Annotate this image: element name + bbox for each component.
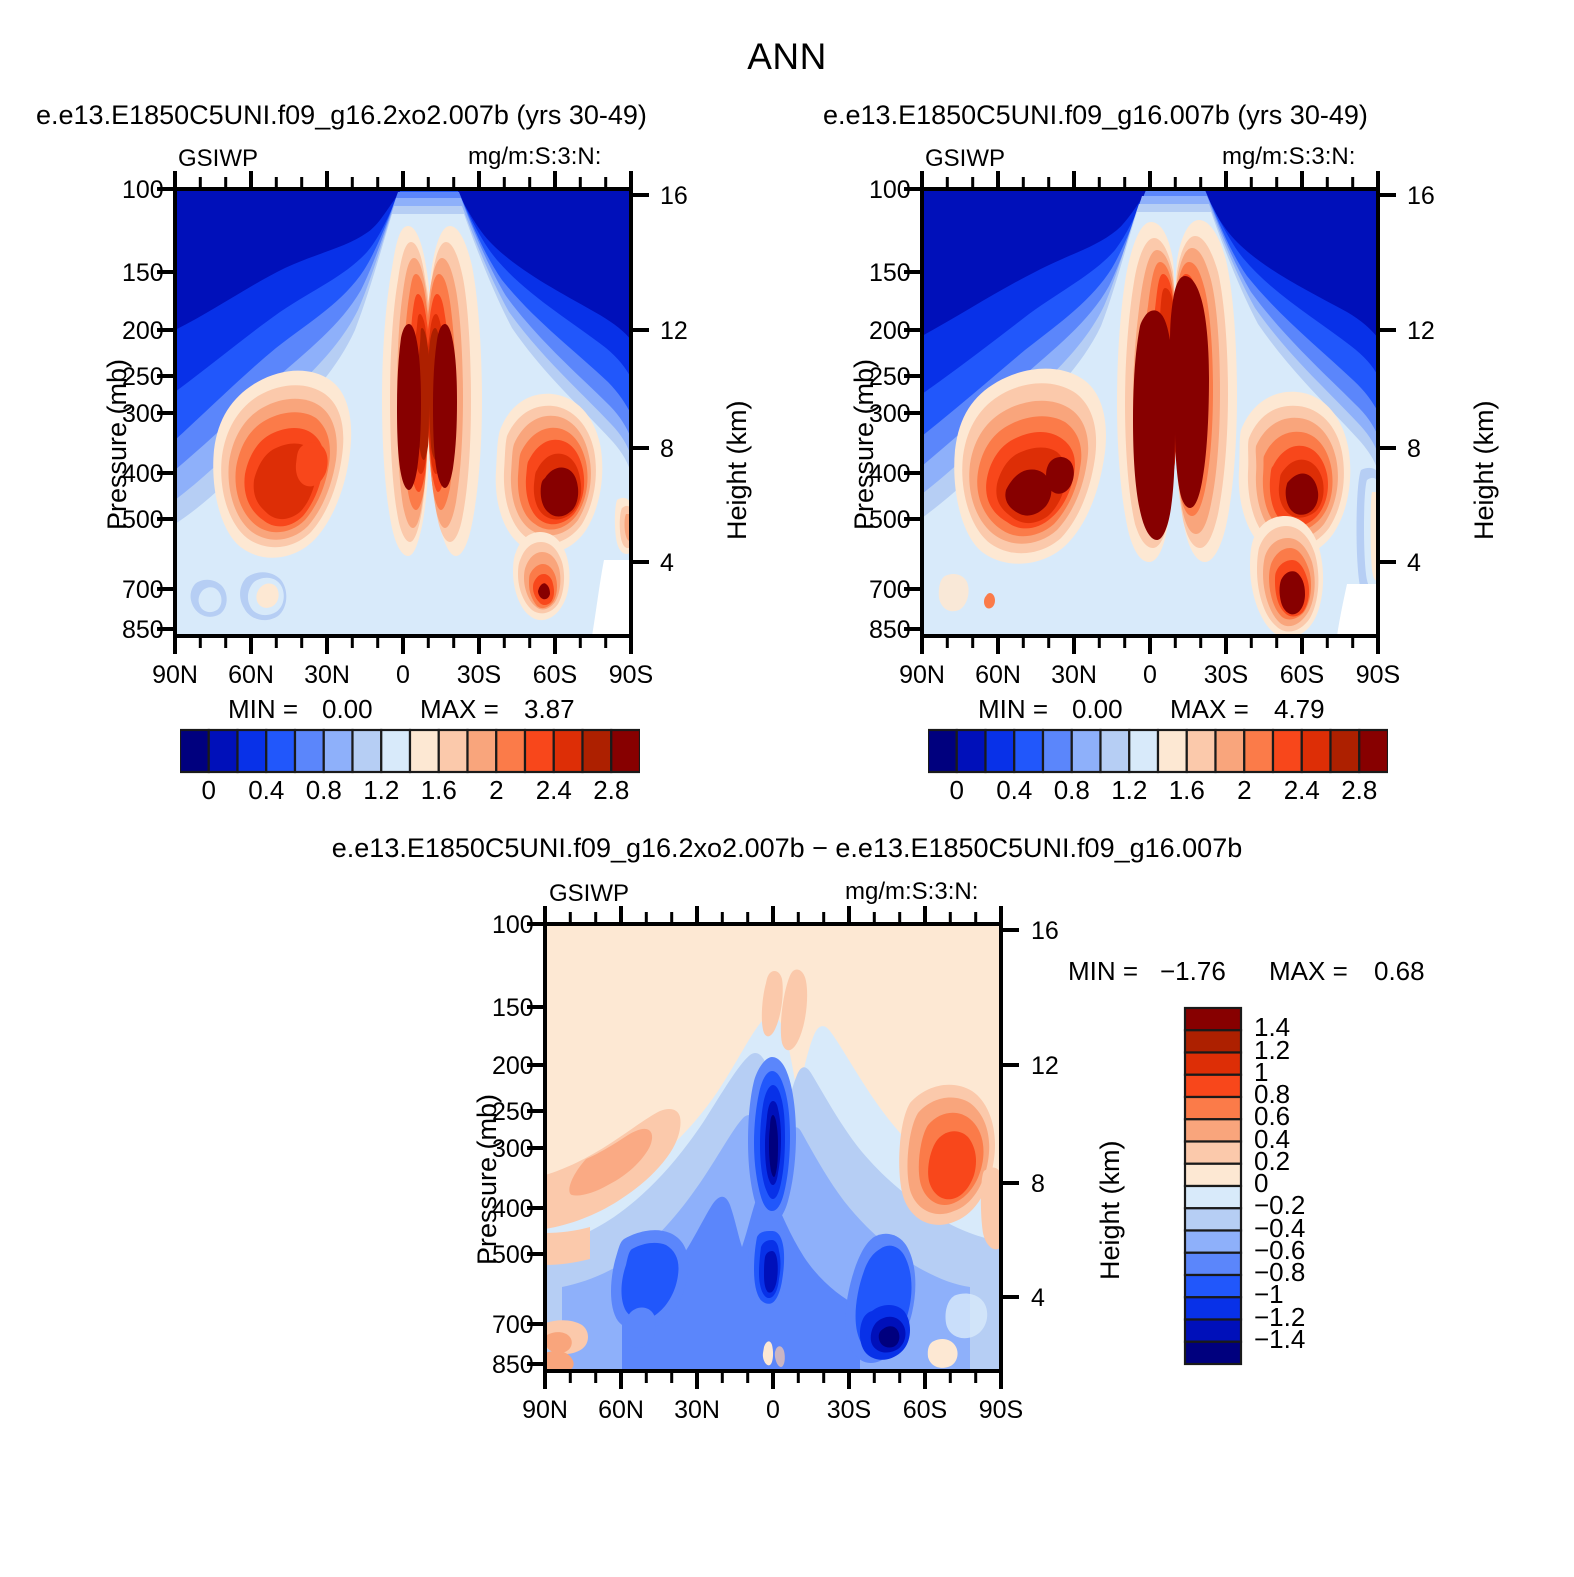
y-tick-right-500: 500 [869,506,897,535]
colorbar-cell [1185,1342,1241,1364]
colorbar-tick-label: −1.4 [1254,1324,1354,1355]
colorbar-cell [1244,730,1273,772]
y2-axis-ticks-diff [1001,930,1019,1297]
y-tick-left-150: 150 [122,259,150,288]
contour-plot-right [747,0,1547,700]
colorbar-tick-label: 2 [1214,775,1274,806]
y2-tick-right-16: 16 [1407,182,1435,211]
y2-tick-left-4: 4 [660,549,674,578]
x-axis-ticks-top-left [175,171,631,189]
colorbar-cell [1185,1275,1241,1297]
colorbar-cell [1185,1208,1241,1230]
contour-plot-diff [370,735,1170,1455]
y-tick-diff-250: 250 [492,1098,520,1127]
colorbar-cell [209,730,238,772]
y-tick-left-200: 200 [122,317,150,346]
y-tick-left-500: 500 [122,506,150,535]
x-tick-right-0: 0 [1110,661,1190,690]
colorbar-cell [1185,1119,1241,1141]
y-tick-right-200: 200 [869,317,897,346]
x-tick-left-0: 0 [363,661,443,690]
x-tick-diff-90N: 90N [505,1396,585,1425]
colorbar-diff-labels: 1.41.210.80.60.40.20−0.2−0.4−0.6−0.8−1−1… [1248,1006,1358,1386]
x-tick-diff-30N: 30N [657,1396,737,1425]
x-tick-diff-90S: 90S [961,1396,1041,1425]
y-tick-right-250: 250 [869,363,897,392]
colorbar-cell [1302,730,1331,772]
y-tick-right-850: 850 [869,616,897,645]
y-tick-right-300: 300 [869,400,897,429]
y-tick-left-700: 700 [122,576,150,605]
max-value-right: 4.79 [1274,694,1325,725]
colorbar-cell [1185,1297,1241,1319]
colorbar-cell [1185,1164,1241,1186]
x-tick-left-30N: 30N [287,661,367,690]
y-tick-right-150: 150 [869,259,897,288]
x-axis-ticks-top-right [922,171,1378,189]
y-tick-right-400: 400 [869,460,897,489]
y2-tick-diff-4: 4 [1031,1284,1045,1313]
y2-tick-right-8: 8 [1407,435,1421,464]
x-tick-right-90N: 90N [882,661,962,690]
colorbar-cell [1185,1142,1241,1164]
colorbar-cell [1185,1186,1241,1208]
y-tick-diff-500: 500 [492,1241,520,1270]
y2-tick-right-4: 4 [1407,549,1421,578]
min-label-left: MIN = [228,694,298,725]
x-axis-ticks-diff [545,1371,1001,1389]
x-tick-diff-60N: 60N [581,1396,661,1425]
contour-plot-left [0,0,760,700]
x-tick-left-30S: 30S [439,661,519,690]
x-axis-ticks-right [922,636,1378,654]
min-value-diff: −1.76 [1160,956,1226,987]
colorbar-cell [1273,730,1302,772]
x-tick-right-90S: 90S [1338,661,1418,690]
contour-field-left [175,189,631,636]
y-tick-left-100: 100 [122,176,150,205]
max-label-diff: MAX = [1269,956,1348,987]
colorbar-cell [1187,730,1216,772]
colorbar-cell [1185,1231,1241,1253]
colorbar-cell [266,730,295,772]
max-label-right: MAX = [1170,694,1249,725]
colorbar-cell [324,730,353,772]
y-tick-left-400: 400 [122,460,150,489]
y2-tick-left-8: 8 [660,435,674,464]
colorbar-cell [1185,1030,1241,1052]
x-axis-ticks-left [175,636,631,654]
colorbar-cell [1185,1053,1241,1075]
max-value-diff: 0.68 [1374,956,1425,987]
x-tick-left-90S: 90S [591,661,671,690]
y-tick-diff-850: 850 [492,1351,520,1380]
y-tick-diff-400: 400 [492,1195,520,1224]
colorbar-cell [238,730,267,772]
min-value-left: 0.00 [322,694,373,725]
x-axis-ticks-top-diff [545,906,1001,924]
colorbar-cell [1185,1097,1241,1119]
contour-field-right [922,189,1378,637]
y-tick-left-300: 300 [122,400,150,429]
colorbar-cell [1185,1008,1241,1030]
x-tick-diff-60S: 60S [885,1396,965,1425]
y-tick-right-700: 700 [869,576,897,605]
x-tick-left-60S: 60S [515,661,595,690]
colorbar-cell [1185,1320,1241,1342]
min-value-right: 0.00 [1072,694,1123,725]
colorbar-diff[interactable] [1183,1006,1243,1366]
y-tick-diff-300: 300 [492,1135,520,1164]
colorbar-tick-label: 2.8 [1329,775,1389,806]
x-tick-right-30N: 30N [1034,661,1114,690]
x-tick-right-60N: 60N [958,661,1038,690]
contour-field-diff [545,924,1001,1371]
colorbar-cell [180,730,209,772]
min-label-diff: MIN = [1068,956,1138,987]
y-tick-left-850: 850 [122,616,150,645]
y-tick-left-250: 250 [122,363,150,392]
y2-tick-diff-8: 8 [1031,1170,1045,1199]
y2-tick-left-12: 12 [660,317,688,346]
y-tick-diff-100: 100 [492,911,520,940]
y2-tick-diff-16: 16 [1031,917,1059,946]
colorbar-tick-label: 2.4 [1272,775,1332,806]
colorbar-cell [295,730,324,772]
min-label-right: MIN = [978,694,1048,725]
y-tick-right-100: 100 [869,176,897,205]
colorbar-cell [1216,730,1245,772]
colorbar-tick-label: 0 [179,775,239,806]
x-tick-diff-0: 0 [733,1396,813,1425]
colorbar-cell [1359,730,1388,772]
colorbar-tick-label: 0.4 [236,775,296,806]
max-value-left: 3.87 [524,694,575,725]
y-tick-diff-200: 200 [492,1052,520,1081]
y2-tick-left-16: 16 [660,182,688,211]
colorbar-cell [1331,730,1360,772]
colorbar-cell [1185,1253,1241,1275]
x-tick-diff-30S: 30S [809,1396,889,1425]
x-tick-left-60N: 60N [211,661,291,690]
y2-axis-ticks-left [631,195,649,562]
x-tick-right-30S: 30S [1186,661,1266,690]
y-tick-diff-150: 150 [492,994,520,1023]
y2-tick-right-12: 12 [1407,317,1435,346]
y-tick-diff-700: 700 [492,1311,520,1340]
colorbar-cell [1185,1075,1241,1097]
y2-axis-ticks-right [1378,195,1396,562]
y2-tick-diff-12: 12 [1031,1052,1059,1081]
max-label-left: MAX = [420,694,499,725]
x-tick-left-90N: 90N [135,661,215,690]
colorbar-tick-label: 0.8 [294,775,354,806]
x-tick-right-60S: 60S [1262,661,1342,690]
